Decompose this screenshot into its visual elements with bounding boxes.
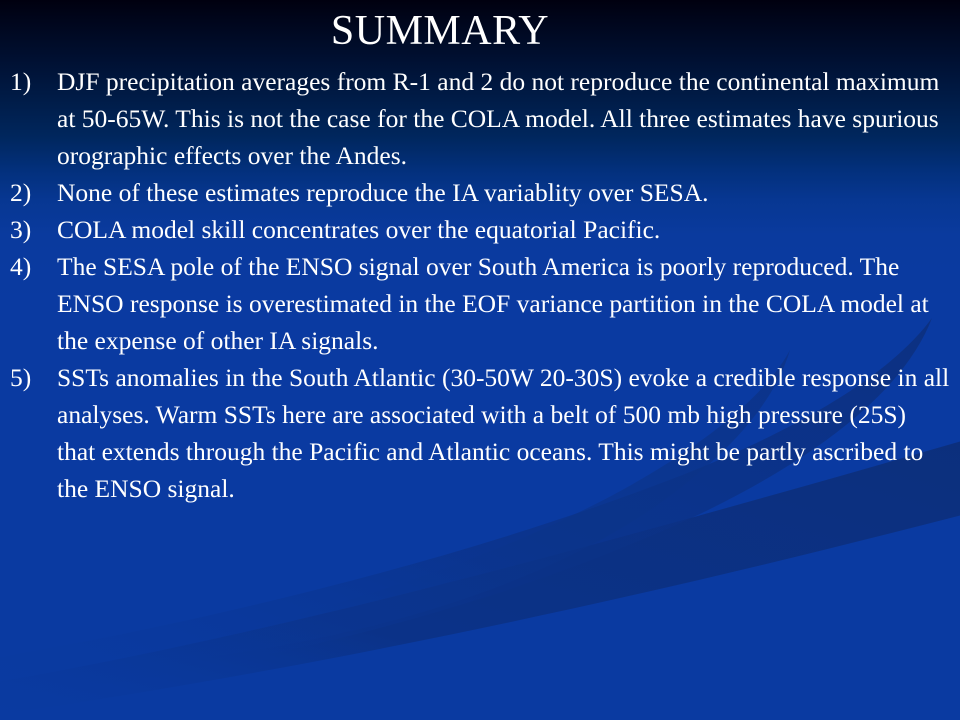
bullet-text-3: COLA model skill concentrates over the e…	[57, 211, 950, 248]
slide-title: SUMMARY	[0, 8, 880, 54]
bullet-text-2: None of these estimates reproduce the IA…	[57, 174, 950, 211]
bullet-marker-5: 5)	[10, 359, 48, 396]
bullet-item-3: 3) COLA model skill concentrates over th…	[10, 211, 950, 248]
bullet-text-1: DJF precipitation averages from R-1 and …	[57, 63, 950, 174]
bullet-marker-4: 4)	[10, 248, 48, 285]
bullet-item-5: 5) SSTs anomalies in the South Atlantic …	[10, 359, 950, 507]
bullet-item-4: 4) The SESA pole of the ENSO signal over…	[10, 248, 950, 359]
bullet-text-4: The SESA pole of the ENSO signal over So…	[57, 248, 950, 359]
bullet-marker-3: 3)	[10, 211, 48, 248]
presentation-slide: SUMMARY 1) DJF precipitation averages fr…	[0, 0, 960, 720]
summary-bullet-list: 1) DJF precipitation averages from R-1 a…	[10, 63, 950, 507]
bullet-marker-1: 1)	[10, 63, 48, 100]
bullet-marker-2: 2)	[10, 174, 48, 211]
bullet-item-1: 1) DJF precipitation averages from R-1 a…	[10, 63, 950, 174]
bullet-text-5: SSTs anomalies in the South Atlantic (30…	[57, 359, 950, 507]
bullet-item-2: 2) None of these estimates reproduce the…	[10, 174, 950, 211]
